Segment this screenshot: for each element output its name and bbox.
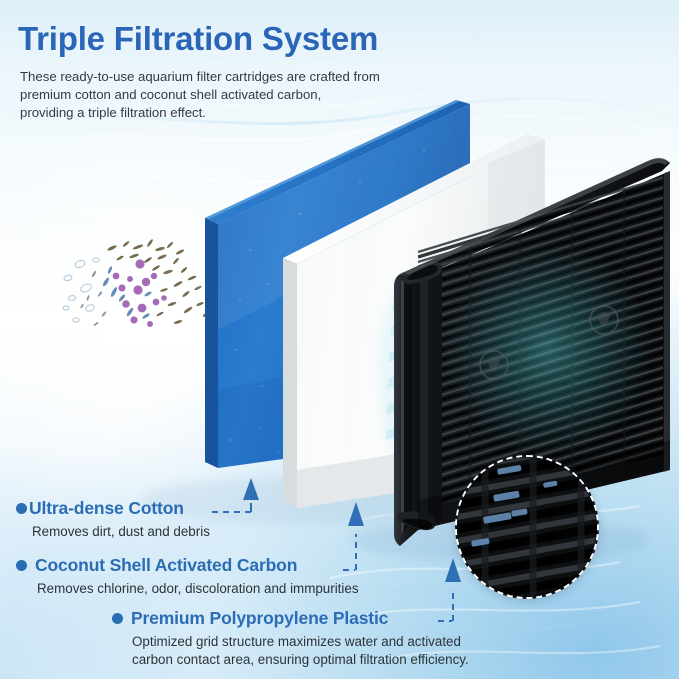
grid-closeup-magnifier [455,455,599,599]
callout-3-detail-line-2: carbon contact area, ensuring optimal fi… [132,651,469,669]
callout-1-heading-row: Ultra-dense Cotton [16,498,210,519]
callout-coconut-shell-activated-carbon[interactable]: Coconut Shell Activated Carbon Removes c… [16,555,359,598]
infographic-page: Triple Filtration System These ready-to-… [0,0,679,679]
callout-3-heading: Premium Polypropylene Plastic [131,608,388,629]
callout-1-detail: Removes dirt, dust and debris [32,523,210,541]
bullet-dot-icon [16,560,27,571]
callout-1-heading: Ultra-dense Cotton [29,498,184,519]
bullet-dot-icon [16,503,27,514]
callout-2-heading: Coconut Shell Activated Carbon [35,555,297,576]
callout-3-heading-row: Premium Polypropylene Plastic [112,608,469,629]
grid-closeup-content [455,455,599,599]
callout-premium-polypropylene-plastic[interactable]: Premium Polypropylene Plastic Optimized … [112,608,469,669]
bullet-dot-icon [112,613,123,624]
callout-3-detail: Optimized grid structure maximizes water… [132,633,469,669]
callout-2-detail: Removes chlorine, odor, discoloration an… [37,580,359,598]
callout-2-heading-row: Coconut Shell Activated Carbon [16,555,359,576]
callout-ultra-dense-cotton[interactable]: Ultra-dense Cotton Removes dirt, dust an… [16,498,210,541]
callout-3-detail-line-1: Optimized grid structure maximizes water… [132,633,469,651]
